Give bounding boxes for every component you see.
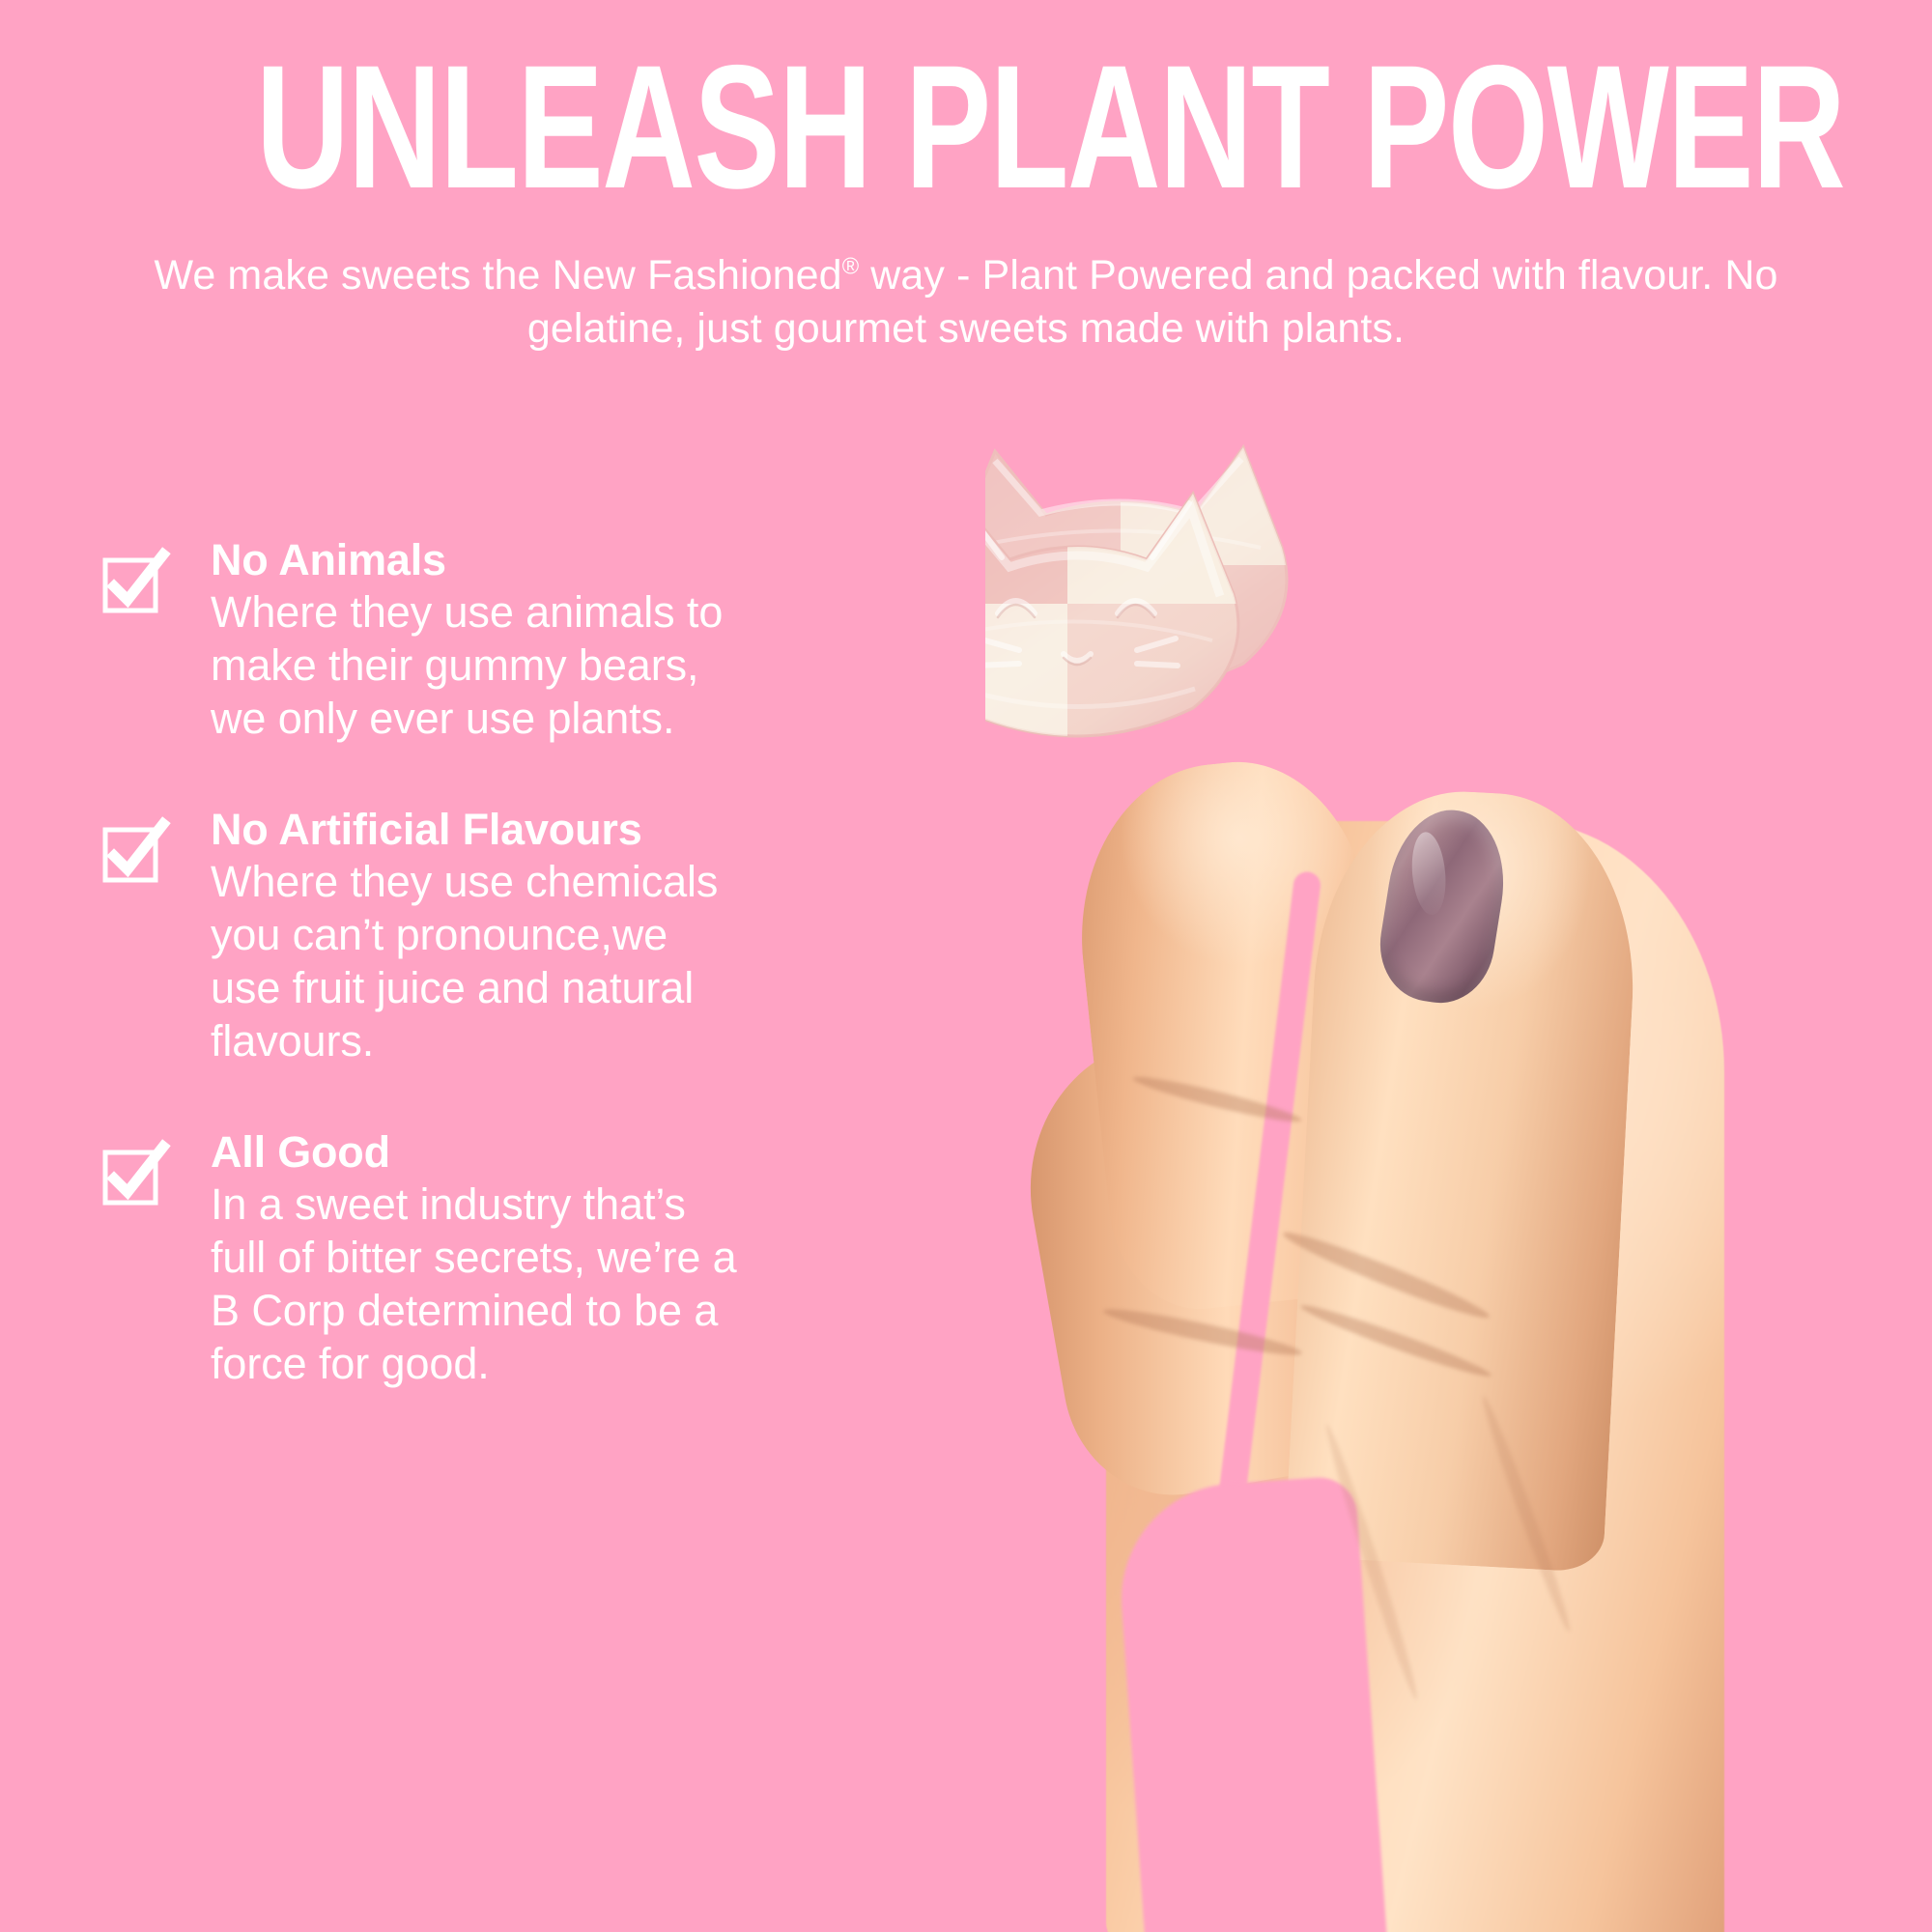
list-item-body: In a sweet industry that’s full of bitte…	[211, 1179, 856, 1391]
list-item-title: No Animals	[211, 536, 856, 584]
list-item-title: All Good	[211, 1128, 856, 1177]
list-item-title: No Artificial Flavours	[211, 806, 856, 854]
benefits-checklist: No Animals Where they use animals to mak…	[93, 536, 856, 1391]
subheading: We make sweets the New Fashioned® way - …	[116, 249, 1816, 355]
list-item: No Animals Where they use animals to mak…	[93, 536, 856, 746]
checked-box-icon	[102, 1144, 164, 1206]
subheading-line1-pre: We make sweets the New Fashioned	[154, 252, 841, 298]
gummy-cat-front	[985, 449, 1280, 768]
subheading-line1-post: way - Plant Powered and packed	[859, 252, 1481, 298]
checked-box-icon	[102, 552, 164, 613]
registered-trademark-icon: ®	[842, 255, 860, 280]
list-item-body: Where they use animals to make their gum…	[211, 586, 856, 746]
list-item: No Artificial Flavours Where they use ch…	[93, 806, 856, 1068]
list-item: All Good In a sweet industry that’s full…	[93, 1128, 856, 1391]
page-title: UNLEASH PLANT POWER	[256, 43, 1676, 212]
checked-box-icon	[102, 821, 164, 883]
hand-holding-gummy-photo	[985, 415, 1932, 1932]
poster-canvas: UNLEASH PLANT POWER We make sweets the N…	[0, 0, 1932, 1932]
hand-edge-background	[1114, 1475, 1388, 1932]
list-item-body: Where they use chemicals you can’t prono…	[211, 856, 856, 1068]
